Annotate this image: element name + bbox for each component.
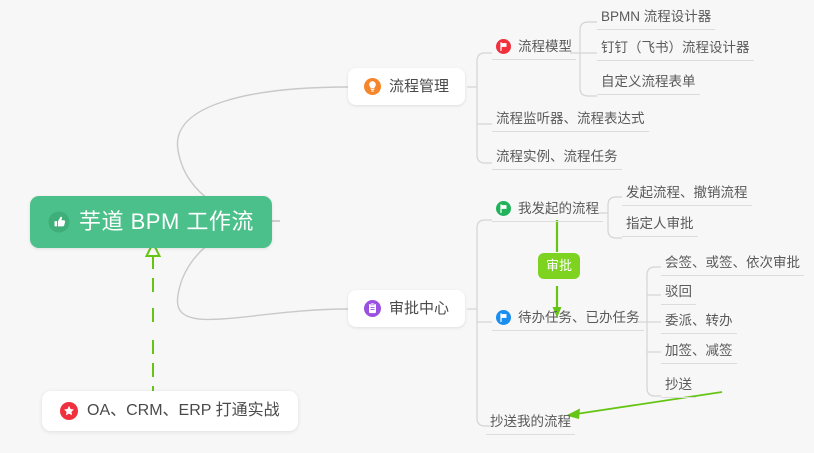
leaf-label-cc-to-me: 抄送我的流程 [490, 413, 571, 430]
root-label: 芋道 BPM 工作流 [79, 209, 254, 235]
leaf-label-my-initiated: 我发起的流程 [518, 200, 599, 217]
leaf-label-process-instance: 流程实例、流程任务 [496, 148, 618, 165]
node-assignee-approval[interactable]: 指定人审批 [622, 215, 698, 237]
node-cc[interactable]: 抄送 [661, 376, 696, 398]
leaf-label-reject: 驳回 [665, 283, 692, 300]
flag-icon [496, 201, 511, 216]
approval-badge-label: 审批 [546, 258, 572, 273]
node-cc-to-me[interactable]: 抄送我的流程 [486, 413, 575, 435]
node-delegate-transfer[interactable]: 委派、转办 [661, 312, 737, 334]
leaf-label-process-listener: 流程监听器、流程表达式 [496, 110, 645, 127]
rail-corner-pm-bottom [477, 155, 492, 163]
node-process-listener[interactable]: 流程监听器、流程表达式 [492, 110, 649, 132]
root-node[interactable]: 芋道 BPM 工作流 [30, 196, 272, 248]
leaf-label-todo-done-tasks: 待办任务、已办任务 [518, 309, 640, 326]
leaf-label-start-cancel-process: 发起流程、撤销流程 [626, 184, 748, 201]
leaf-label-dingtalk-designer: 钉钉（飞书）流程设计器 [601, 39, 750, 56]
rail-corner-ac-top [477, 220, 492, 228]
star-icon [60, 402, 78, 420]
node-process-model[interactable]: 流程模型 [492, 38, 576, 60]
node-process-instance[interactable]: 流程实例、流程任务 [492, 148, 622, 170]
leaf-label-assignee-approval: 指定人审批 [626, 215, 694, 232]
approval-badge: 审批 [538, 253, 580, 279]
leaf-label-custom-form: 自定义流程表单 [601, 73, 696, 90]
clipboard-icon [364, 300, 381, 317]
rail-corner-mine-top [608, 197, 622, 205]
rail-corner-pmodel-bottom [580, 88, 597, 96]
rail-corner-mine-bottom [608, 230, 622, 238]
flag-icon [496, 310, 511, 325]
callout-card[interactable]: OA、CRM、ERP 打通实战 [42, 391, 298, 431]
leaf-label-cc: 抄送 [665, 376, 692, 393]
lightbulb-icon [364, 78, 381, 95]
node-multi-sign[interactable]: 会签、或签、依次审批 [661, 254, 804, 276]
node-custom-form[interactable]: 自定义流程表单 [597, 73, 700, 95]
leaf-label-delegate-transfer: 委派、转办 [665, 312, 733, 329]
leaf-label-add-remove-sign: 加签、减签 [665, 342, 733, 359]
thumbs-up-icon [48, 211, 70, 233]
node-my-initiated[interactable]: 我发起的流程 [492, 200, 603, 222]
node-label-process-management: 流程管理 [389, 77, 449, 96]
node-add-remove-sign[interactable]: 加签、减签 [661, 342, 737, 364]
leaf-label-multi-sign: 会签、或签、依次审批 [665, 254, 800, 271]
node-start-cancel-process[interactable]: 发起流程、撤销流程 [622, 184, 752, 206]
node-approval-center[interactable]: 审批中心 [348, 290, 465, 327]
rail-corner-pm-top [477, 53, 492, 61]
node-todo-done-tasks[interactable]: 待办任务、已办任务 [492, 309, 644, 331]
mindmap-canvas: 芋道 BPM 工作流 流程管理 审批中心 [0, 0, 814, 453]
node-process-management[interactable]: 流程管理 [348, 68, 465, 105]
node-dingtalk-designer[interactable]: 钉钉（飞书）流程设计器 [597, 39, 754, 61]
node-bpmn-designer[interactable]: BPMN 流程设计器 [597, 8, 715, 30]
leaf-label-process-model: 流程模型 [518, 38, 572, 55]
node-reject[interactable]: 驳回 [661, 283, 696, 305]
leaf-label-bpmn-designer: BPMN 流程设计器 [601, 8, 711, 25]
flag-icon [496, 39, 511, 54]
rail-corner-todo-bottom [647, 388, 661, 396]
rail-corner-todo-top [647, 267, 661, 275]
green-arrow-cc [576, 392, 722, 414]
node-label-approval-center: 审批中心 [389, 299, 449, 318]
rail-corner-pmodel-top [580, 22, 597, 30]
callout-label: OA、CRM、ERP 打通实战 [87, 401, 280, 421]
